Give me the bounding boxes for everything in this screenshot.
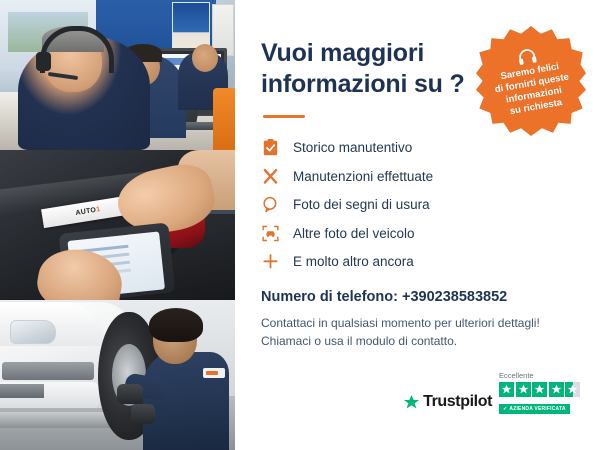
star-filled — [499, 382, 514, 397]
contact-subtext: Contattaci in qualsiasi momento per ulte… — [261, 314, 574, 350]
trustpilot-logo: Trustpilot — [403, 393, 492, 415]
orange-equipment — [213, 88, 235, 150]
car-scan-icon — [261, 224, 280, 243]
trustpilot-wordmark: Trustpilot — [423, 393, 492, 411]
third-agent-head — [192, 44, 218, 72]
content-panel: Vuoi maggiori informazioni su ? Saremo f… — [235, 0, 600, 450]
feature-label: E molto altro ancora — [293, 254, 414, 269]
rating-label: Eccellente — [499, 371, 580, 380]
contact-info-banner: AUTO1 — [0, 0, 600, 450]
feature-list: Storico manutentivo Manutenzioni effettu… — [261, 138, 574, 271]
call-center-agents-photo — [0, 0, 235, 150]
title-underline-rule — [263, 115, 305, 118]
wrench-cross-icon — [261, 167, 280, 186]
contact-subtext-line-1: Contattaci in qualsiasi momento per ulte… — [261, 314, 574, 332]
star-filled — [532, 382, 547, 397]
mechanic-body — [143, 352, 229, 450]
trustpilot-widget[interactable]: Trustpilot Eccellente — [403, 371, 580, 415]
page-title: Vuoi maggiori informazioni su ? — [261, 38, 476, 99]
verified-business-badge: ✓ AZIENDA VERIFICATA — [499, 404, 570, 414]
verified-label: AZIENDA VERIFICATA — [509, 406, 565, 412]
trustpilot-star-icon — [403, 394, 420, 411]
headline-line-1: Vuoi maggiori — [261, 39, 424, 67]
feature-label: Manutenzioni effettuate — [293, 169, 433, 184]
phone-number[interactable]: +390238583852 — [402, 289, 507, 305]
car-grille — [2, 362, 94, 380]
phone-label: Numero di telefono: — [261, 289, 398, 305]
mechanic-glove-upper — [117, 384, 143, 404]
plus-icon — [261, 252, 280, 271]
feature-label: Storico manutentivo — [293, 140, 412, 155]
car-lower-grille — [0, 384, 44, 398]
check-icon: ✓ — [503, 406, 507, 412]
support-callout-badge: Saremo felici di fornirti queste informa… — [476, 26, 586, 136]
star-rating — [499, 382, 580, 397]
feature-label: Foto dei segni di usura — [293, 197, 430, 212]
badge-content: Saremo felici di fornirti queste informa… — [488, 42, 573, 121]
list-item: Manutenzioni effettuate — [261, 167, 574, 186]
list-item: E molto altro ancora — [261, 252, 574, 271]
sticker-on-car-photo: AUTO1 — [0, 150, 235, 300]
trustpilot-rating: Eccellente — [499, 371, 580, 415]
mechanic-glove-lower — [131, 404, 155, 424]
clipboard-check-icon — [261, 138, 280, 157]
car-headlight — [10, 320, 56, 344]
sticker-text: AUTO1 — [75, 206, 101, 217]
feature-label: Altre foto del veicolo — [293, 226, 415, 241]
star-half — [565, 382, 580, 397]
star-filled — [516, 382, 531, 397]
list-item: Foto dei segni di usura — [261, 195, 574, 214]
magnifier-icon — [261, 195, 280, 214]
uniform-logo-patch — [203, 368, 225, 378]
mechanic-wheel-inspection-photo — [0, 300, 235, 450]
photo-column: AUTO1 — [0, 0, 235, 450]
headset-icon — [516, 47, 537, 66]
mechanic-hair — [149, 308, 203, 342]
phone-line: Numero di telefono: +390238583852 — [261, 289, 574, 305]
headset-earcup — [36, 52, 51, 71]
contact-subtext-line-2: Chiamaci o usa il modulo di contatto. — [261, 332, 574, 350]
star-filled — [549, 382, 564, 397]
list-item: Altre foto del veicolo — [261, 224, 574, 243]
headline-line-2: informazioni su ? — [261, 70, 465, 98]
list-item: Storico manutentivo — [261, 138, 574, 157]
